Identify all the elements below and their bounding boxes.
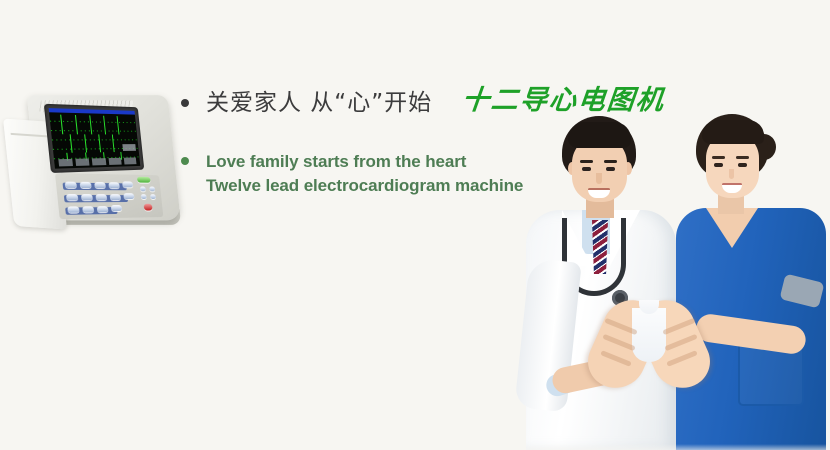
headline-chinese: 关爱家人 从“心”开始 (206, 88, 432, 118)
doctor-eyebrow-right (604, 160, 617, 163)
screen-logo (122, 144, 136, 151)
screen-softkey-bar (58, 157, 136, 166)
nurse-eye-left (714, 163, 723, 167)
device-screen (49, 108, 141, 169)
subheadline-english: Love family starts from the heart Twelve… (206, 150, 523, 198)
doctor-nurse-photo (500, 110, 830, 450)
nurse-vneck-skin (706, 208, 758, 248)
device-keypad (55, 173, 163, 219)
doctor-eyebrow-left (580, 160, 593, 163)
screen-title-bar (49, 108, 135, 115)
bullet-dot-icon-2 (181, 157, 189, 165)
bullet-dot-icon-1 (181, 99, 189, 107)
nurse-eye-right (738, 163, 747, 167)
ecg-machine-image: ECG (1, 84, 183, 239)
doctor-eye-left (582, 167, 591, 171)
nurse-nose (729, 169, 734, 179)
device-screen-bezel (44, 104, 145, 173)
doctor-fringe (568, 122, 631, 148)
doctor-eye-right (606, 167, 615, 171)
nurse-eyebrow-right (736, 156, 749, 159)
nurse-eyebrow-left (712, 156, 725, 159)
device-stop-key (144, 204, 153, 211)
nurse-fringe (702, 120, 764, 144)
subheadline-line-2: Twelve lead electrocardiogram machine (206, 174, 523, 198)
device-start-key (137, 177, 151, 183)
heart-negative-space (632, 308, 666, 362)
doctor-nose (596, 173, 602, 184)
bottom-fade (0, 444, 830, 450)
subheadline-line-1: Love family starts from the heart (206, 150, 523, 174)
ecg-product-banner: ECG 关爱家人 从“心”开始 (0, 0, 830, 450)
